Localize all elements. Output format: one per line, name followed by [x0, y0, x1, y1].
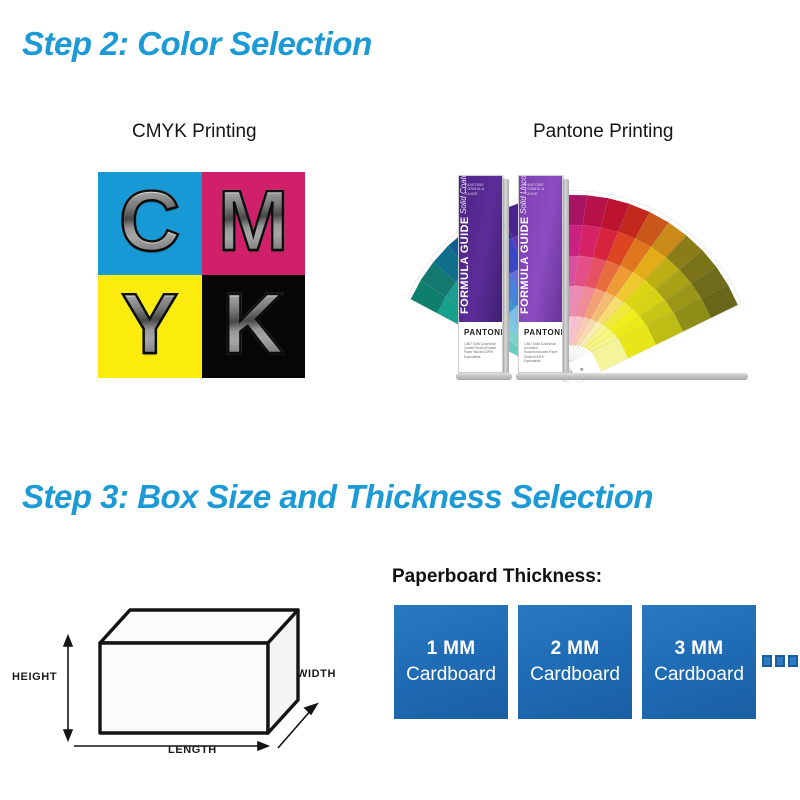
- step-2-heading: Step 2: Color Selection: [22, 25, 372, 63]
- guide-title-uncoated: FORMULA GUIDE: [519, 216, 531, 314]
- box-front-face: [100, 643, 268, 733]
- cmyk-letter-m: M: [218, 179, 289, 264]
- fan-deck-base-left: [456, 373, 512, 380]
- step-3-heading: Step 3: Box Size and Thickness Selection: [22, 478, 653, 516]
- cmyk-printing-label: CMYK Printing: [132, 121, 257, 143]
- guide-fine-print-uncoated: 1,867 Solid Colors\non Uncoated Stock\nU…: [524, 342, 558, 363]
- pantone-brand-coated: PANTONE: [464, 328, 503, 337]
- pantone-printing-label: Pantone Printing: [533, 121, 674, 143]
- thickness-2mm-value: 2 MM: [551, 638, 600, 660]
- box-top-face: [100, 610, 298, 643]
- thickness-3mm-value: 3 MM: [675, 638, 724, 660]
- guide-spine-coated: [502, 179, 509, 377]
- thickness-option-1mm[interactable]: 1 MM Cardboard: [394, 605, 508, 719]
- more-indicator-square-1: [762, 655, 772, 667]
- more-indicator-square-3: [788, 655, 798, 667]
- guide-cover-coated: PANTONE FORMULA GUIDE FORMULA GUIDE Soli…: [459, 176, 502, 322]
- more-indicator-square-2: [775, 655, 785, 667]
- pantone-guide-solid-uncoated: PANTONE FORMULA GUIDE FORMULA GUIDE Soli…: [518, 175, 563, 373]
- fan-page-tick: [580, 367, 584, 371]
- paperboard-thickness-title: Paperboard Thickness:: [392, 566, 602, 588]
- thickness-1mm-value: 1 MM: [427, 638, 476, 660]
- cmyk-letter-y: Y: [121, 282, 178, 367]
- guide-spine-uncoated: [562, 179, 569, 377]
- fan-deck-base-right: [516, 373, 748, 380]
- guide-cover-uncoated: PANTONE FORMULA GUIDE FORMULA GUIDE Soli…: [519, 176, 562, 322]
- thickness-3mm-material: Cardboard: [654, 664, 744, 686]
- pantone-brand-uncoated: PANTONE: [524, 328, 563, 337]
- pantone-fan-deck-graphic: PANTONE FORMULA GUIDE FORMULA GUIDE Soli…: [452, 163, 758, 391]
- cmyk-quadrant-cyan: C: [98, 172, 202, 275]
- thickness-option-2mm[interactable]: 2 MM Cardboard: [518, 605, 632, 719]
- guide-fine-print-coated: 1,867 Solid Colors\non Coated Stock\nCoa…: [464, 342, 498, 359]
- cmyk-letter-k: K: [223, 282, 284, 367]
- box-length-label: LENGTH: [168, 744, 217, 756]
- cmyk-quadrant-magenta: M: [202, 172, 306, 275]
- height-arrow: [64, 636, 72, 740]
- guide-title-coated: FORMULA GUIDE: [459, 216, 471, 314]
- cmyk-letter-c: C: [119, 179, 180, 264]
- guide-subtitle-uncoated: Solid Uncoated: [519, 175, 528, 214]
- thickness-more-options-indicator[interactable]: [762, 655, 798, 667]
- box-width-label: WIDTH: [297, 668, 336, 680]
- cmyk-color-graphic: C M Y K: [98, 172, 305, 378]
- box-height-label: HEIGHT: [12, 671, 57, 683]
- thickness-option-3mm[interactable]: 3 MM Cardboard: [642, 605, 756, 719]
- guide-subtitle-coated: Solid Coated: [459, 175, 468, 214]
- guide-vertical-text-coated: FORMULA GUIDE Solid Coated: [459, 194, 502, 314]
- thickness-2mm-material: Cardboard: [530, 664, 620, 686]
- cmyk-quadrant-yellow: Y: [98, 275, 202, 378]
- cmyk-quadrant-black: K: [202, 275, 306, 378]
- pantone-guide-solid-coated: PANTONE FORMULA GUIDE FORMULA GUIDE Soli…: [458, 175, 503, 373]
- thickness-1mm-material: Cardboard: [406, 664, 496, 686]
- guide-vertical-text-uncoated: FORMULA GUIDE Solid Uncoated: [519, 194, 562, 314]
